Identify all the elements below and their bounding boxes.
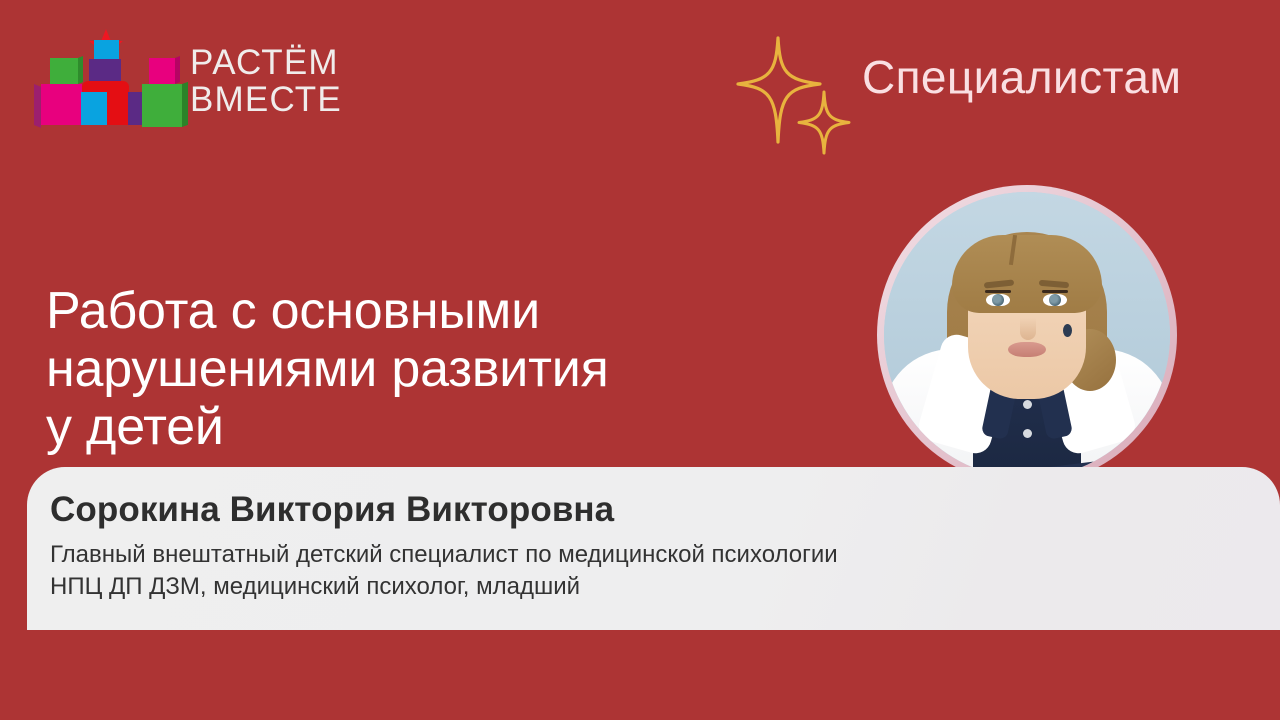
logo-wordmark-line1: РАСТЁМ	[190, 44, 342, 81]
speaker-role-line1: Главный внештатный детский специалист по…	[50, 539, 838, 571]
logo-block-left-cyan	[81, 92, 107, 125]
sparkle-small-icon	[799, 92, 849, 153]
logo-block-left-green	[50, 58, 78, 84]
logo-wordmark-line2: ВМЕСТЕ	[190, 81, 342, 118]
page-title-line1: Работа с основными	[46, 282, 826, 340]
slide-canvas: РАСТЁМ ВМЕСТЕ Специалистам Работа с осно…	[0, 0, 1280, 720]
sparkles-decoration	[736, 34, 856, 156]
logo-blocks-illustration	[38, 28, 186, 132]
speaker-avatar	[877, 185, 1177, 485]
page-title-line2: нарушениями развития	[46, 340, 826, 398]
logo-block-right-green	[142, 84, 182, 127]
audience-label: Специалистам	[862, 50, 1181, 104]
brand-logo[interactable]: РАСТЁМ ВМЕСТЕ	[38, 28, 348, 138]
sparkle-icon	[736, 34, 856, 156]
logo-block-right-magenta	[149, 58, 175, 84]
page-title: Работа с основными нарушениями развития …	[46, 282, 826, 456]
logo-wordmark: РАСТЁМ ВМЕСТЕ	[190, 44, 342, 118]
speaker-photo	[884, 192, 1170, 478]
page-title-line3: у детей	[46, 398, 826, 456]
speaker-role-line2: НПЦ ДП ДЗМ, медицинский психолог, младши…	[50, 571, 838, 603]
speaker-card: Сорокина Виктория Викторовна Главный вне…	[27, 467, 1280, 630]
speaker-name: Сорокина Виктория Викторовна	[50, 490, 614, 530]
logo-block-left-magenta	[41, 84, 82, 125]
speaker-role: Главный внештатный детский специалист по…	[50, 539, 838, 603]
